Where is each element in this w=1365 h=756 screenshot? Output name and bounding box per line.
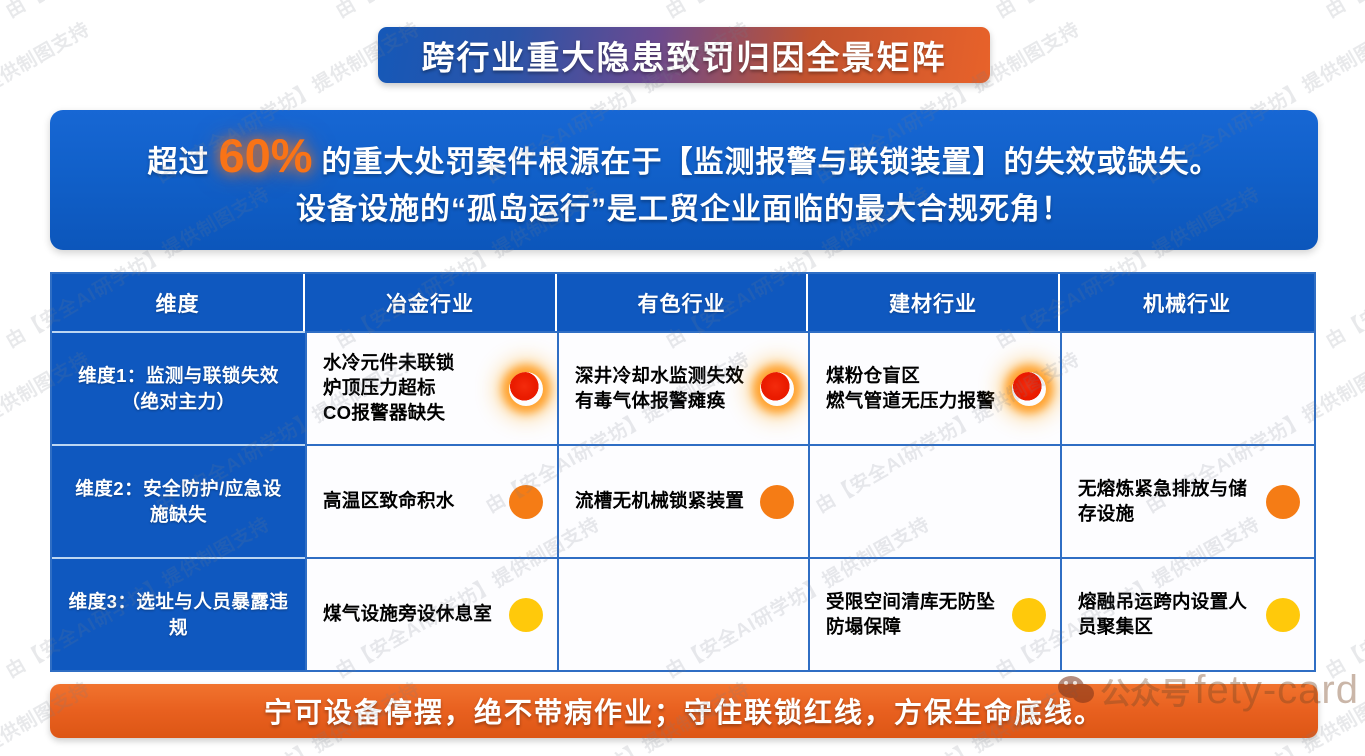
dimension-label-cell: 维度2：安全防护/应急设施缺失 [52, 444, 305, 557]
dimension-label-cell: 维度1：监测与联锁失效（绝对主力） [52, 331, 305, 444]
footer-slogan: 宁可设备停摆，绝不带病作业；守住联锁红线，方保生命底线。 [264, 691, 1104, 731]
key-finding-percentage: 60% [218, 126, 312, 186]
key-finding-line-1: 超过 60% 的重大处罚案件根源在于【监测报警与联锁装置】的失效或缺失。 [147, 126, 1220, 186]
risk-matrix-table: 维度 冶金行业 有色行业 建材行业 机械行业 维度1：监测与联锁失效（绝对主力）… [50, 272, 1316, 672]
column-header-metallurgy: 冶金行业 [305, 274, 557, 331]
matrix-cell: 流槽无机械锁紧装置 [557, 444, 808, 557]
severity-dot-orange [509, 485, 543, 519]
severity-dot-yellow [1012, 598, 1046, 632]
severity-dot-red [1012, 372, 1046, 406]
matrix-cell: 水冷元件未联锁 炉顶压力超标 CO报警器缺失 [305, 331, 557, 444]
matrix-cell: 高温区致命积水 [305, 444, 557, 557]
matrix-cell: 熔融吊运跨内设置人员聚集区 [1060, 557, 1314, 670]
matrix-cell: 受限空间清库无防坠防塌保障 [808, 557, 1060, 670]
footer-slogan-banner: 宁可设备停摆，绝不带病作业；守住联锁红线，方保生命底线。 [50, 684, 1318, 738]
column-header-nonferrous: 有色行业 [557, 274, 808, 331]
matrix-cell [808, 444, 1060, 557]
column-header-machinery: 机械行业 [1060, 274, 1314, 331]
table-row: 维度1：监测与联锁失效（绝对主力） 水冷元件未联锁 炉顶压力超标 CO报警器缺失… [52, 331, 1314, 444]
severity-dot-yellow [509, 598, 543, 632]
key-finding-banner: 超过 60% 的重大处罚案件根源在于【监测报警与联锁装置】的失效或缺失。 设备设… [50, 110, 1318, 250]
severity-dot-none [1266, 372, 1300, 406]
table-header-row: 维度 冶金行业 有色行业 建材行业 机械行业 [52, 274, 1314, 331]
severity-dot-yellow [1266, 598, 1300, 632]
severity-dot-none [1012, 485, 1046, 519]
matrix-cell [1060, 331, 1314, 444]
key-finding-prefix: 超过 [147, 144, 209, 182]
dimension-label-cell: 维度3：选址与人员暴露违规 [52, 557, 305, 670]
key-finding-suffix: 的重大处罚案件根源在于【监测报警与联锁装置】的失效或缺失。 [322, 144, 1221, 182]
severity-dot-none [760, 598, 794, 632]
table-row: 维度3：选址与人员暴露违规 煤气设施旁设休息室 受限空间清库无防坠防塌保障 熔融… [52, 557, 1314, 670]
column-header-dimension: 维度 [52, 274, 305, 331]
page-title: 跨行业重大隐患致罚归因全景矩阵 [422, 31, 947, 79]
key-finding-line-2: 设备设施的“孤岛运行”是工贸企业面临的最大合规死角！ [296, 191, 1072, 229]
matrix-cell: 煤粉仓盲区 燃气管道无压力报警 [808, 331, 1060, 444]
page-title-bar: 跨行业重大隐患致罚归因全景矩阵 [378, 27, 990, 83]
column-header-building-materials: 建材行业 [808, 274, 1060, 331]
table-row: 维度2：安全防护/应急设施缺失 高温区致命积水 流槽无机械锁紧装置 无熔炼紧急排… [52, 444, 1314, 557]
matrix-cell: 深井冷却水监测失效 有毒气体报警瘫痪 [557, 331, 808, 444]
severity-dot-orange [760, 485, 794, 519]
matrix-cell: 无熔炼紧急排放与储存设施 [1060, 444, 1314, 557]
matrix-cell [557, 557, 808, 670]
severity-dot-red [760, 372, 794, 406]
severity-dot-red [509, 372, 543, 406]
matrix-cell: 煤气设施旁设休息室 [305, 557, 557, 670]
severity-dot-orange [1266, 485, 1300, 519]
